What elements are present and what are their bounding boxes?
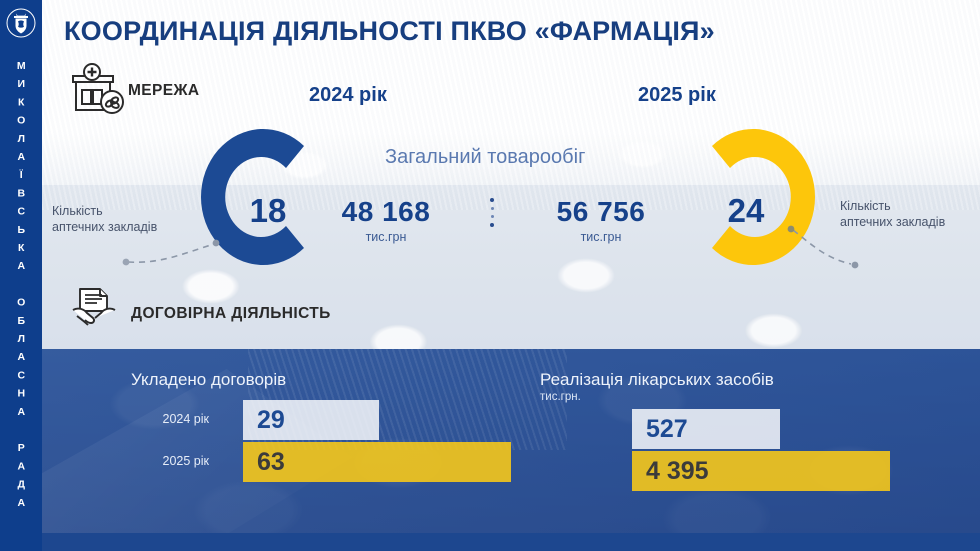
leader-line-left [120, 236, 225, 270]
chart-sales-value-0: 527 [632, 415, 688, 444]
page-title: КООРДИНАЦІЯ ДІЯЛЬНОСТІ ПКВО «ФАРМАЦІЯ» [64, 16, 715, 47]
contract-handshake-icon [68, 286, 120, 330]
donut-value-2024: 18 [198, 192, 338, 230]
table-row: 4 395 [540, 451, 960, 491]
turnover-value-2025: 56 756 [551, 196, 651, 228]
left-rail: МИКОЛАЇВСЬКА ОБЛАСНА РАДА [0, 0, 42, 551]
callout-left-line1: Кількість [52, 204, 157, 220]
vertical-dots-divider [490, 198, 494, 227]
bottom-band [42, 533, 980, 551]
chart-contracts-category-0: 2024 рік [131, 412, 209, 426]
turnover-2025: 56 756 тис.грн [551, 196, 651, 244]
chart-sales-bars: 527 4 395 [540, 409, 960, 491]
chart-contracts: Укладено договорів 2024 рік 29 2025 рік … [131, 370, 531, 484]
pharmacy-building-icon [68, 62, 128, 120]
chart-contracts-category-1: 2025 рік [131, 454, 209, 468]
network-label: МЕРЕЖА [128, 82, 200, 100]
turnover-title: Загальний товарообіг [385, 146, 585, 169]
contract-label: ДОГОВІРНА ДІЯЛЬНІСТЬ [131, 305, 331, 323]
coat-of-arms-emblem [6, 7, 36, 39]
callout-left-line2: аптечних закладів [52, 220, 157, 236]
chart-contracts-value-0: 29 [243, 406, 285, 435]
rail-vertical-text: МИКОЛАЇВСЬКА ОБЛАСНА РАДА [0, 60, 42, 520]
callout-right: Кількість аптечних закладів [840, 199, 945, 230]
chart-contracts-bar-0: 29 [243, 400, 379, 440]
chart-sales-bar-0: 527 [632, 409, 780, 449]
callout-left: Кількість аптечних закладів [52, 204, 157, 235]
year-label-2025: 2025 рік [638, 84, 716, 107]
turnover-unit-2025: тис.грн [551, 230, 651, 244]
table-row: 2025 рік 63 [131, 442, 531, 482]
chart-sales-bar-1: 4 395 [632, 451, 890, 491]
callout-right-line2: аптечних закладів [840, 215, 945, 231]
chart-sales-value-1: 4 395 [632, 457, 709, 486]
chart-contracts-value-1: 63 [243, 448, 285, 477]
table-row: 2024 рік 29 [131, 400, 531, 440]
table-row: 527 [540, 409, 960, 449]
chart-sales: Реалізація лікарських засобів тис.грн. 5… [540, 370, 960, 493]
chart-contracts-bars: 2024 рік 29 2025 рік 63 [131, 400, 531, 482]
rail-label: МИКОЛАЇВСЬКА ОБЛАСНА РАДА [16, 60, 27, 515]
turnover-2024: 48 168 тис.грн [336, 196, 436, 244]
turnover-unit-2024: тис.грн [336, 230, 436, 244]
chart-sales-subtitle: тис.грн. [540, 391, 960, 403]
chart-contracts-bar-1: 63 [243, 442, 511, 482]
chart-sales-title: Реалізація лікарських засобів [540, 370, 960, 390]
turnover-value-2024: 48 168 [336, 196, 436, 228]
infographic-slide: МИКОЛАЇВСЬКА ОБЛАСНА РАДА КООРДИНАЦІЯ ДІ… [0, 0, 980, 551]
callout-right-line1: Кількість [840, 199, 945, 215]
chart-contracts-title: Укладено договорів [131, 370, 531, 390]
year-label-2024: 2024 рік [309, 84, 387, 107]
